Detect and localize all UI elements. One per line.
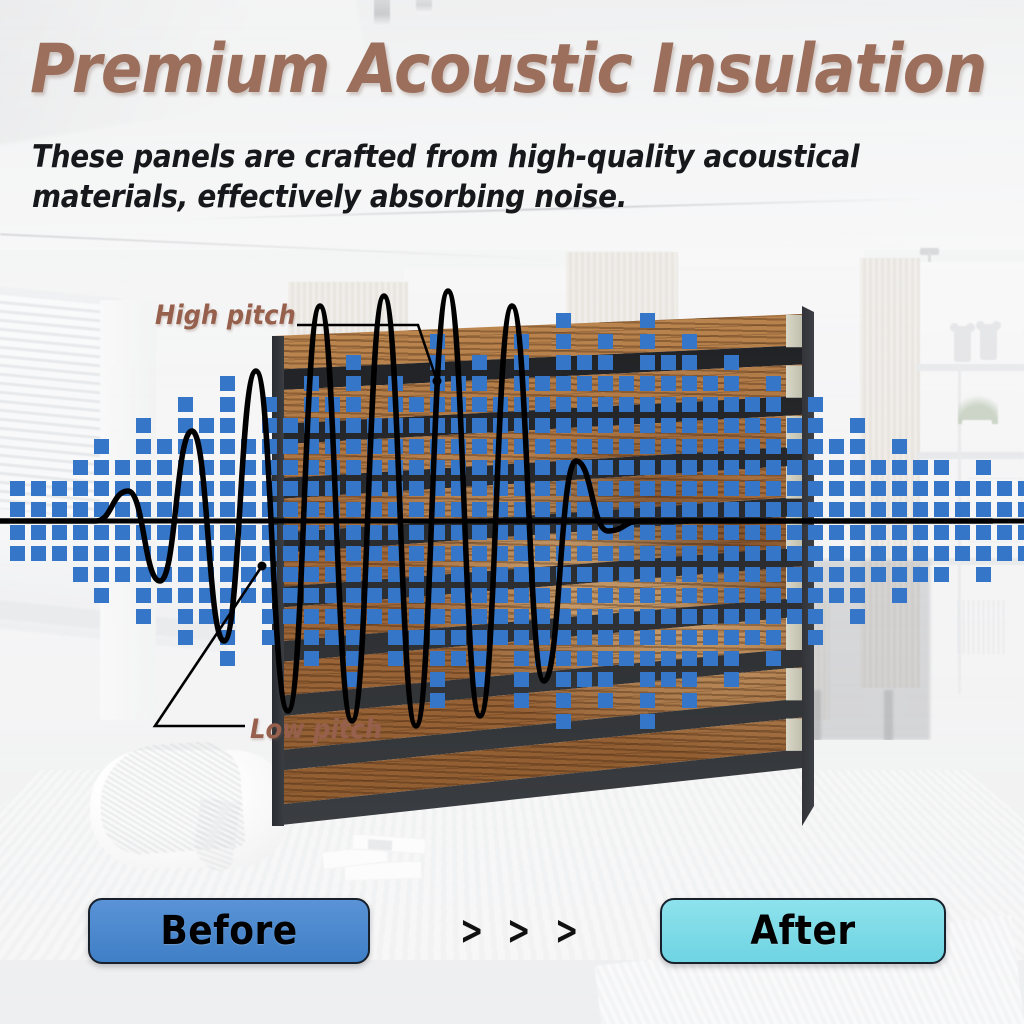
equalizer-block [304, 630, 319, 645]
equalizer-block [682, 418, 697, 433]
equalizer-block [766, 525, 781, 540]
equalizer-block [31, 481, 46, 496]
equalizer-block [577, 525, 592, 540]
equalizer-block [220, 376, 235, 391]
equalizer-block [850, 439, 865, 454]
equalizer-block [598, 546, 613, 561]
equalizer-block [619, 651, 634, 666]
equalizer-block [829, 525, 844, 540]
high-pitch-anchor-dot [433, 377, 442, 386]
equalizer-block [745, 588, 760, 603]
equalizer-block [703, 630, 718, 645]
equalizer-block [178, 588, 193, 603]
equalizer-block [682, 376, 697, 391]
equalizer-block [598, 609, 613, 624]
equalizer-block [430, 609, 445, 624]
equalizer-block [346, 418, 361, 433]
equalizer-block [73, 567, 88, 582]
before-button-label: Before [160, 911, 297, 951]
equalizer-block [661, 502, 676, 517]
equalizer-block [997, 502, 1012, 517]
equalizer-block [724, 502, 739, 517]
equalizer-block [430, 651, 445, 666]
equalizer-block [220, 525, 235, 540]
equalizer-block [220, 418, 235, 433]
equalizer-block [682, 588, 697, 603]
equalizer-block [409, 609, 424, 624]
equalizer-block [283, 567, 298, 582]
equalizer-block [703, 588, 718, 603]
equalizer-block [430, 693, 445, 708]
equalizer-block [619, 418, 634, 433]
equalizer-block [829, 588, 844, 603]
equalizer-block [661, 418, 676, 433]
equalizer-block [178, 546, 193, 561]
equalizer-block [472, 460, 487, 475]
equalizer-block [136, 418, 151, 433]
equalizer-block [115, 502, 130, 517]
equalizer-block [598, 651, 613, 666]
equalizer-block [472, 481, 487, 496]
equalizer-block [640, 651, 655, 666]
equalizer-block [577, 418, 592, 433]
after-button-label: After [750, 911, 855, 951]
equalizer-block [409, 546, 424, 561]
equalizer-block [892, 460, 907, 475]
equalizer-block [829, 439, 844, 454]
equalizer-block [808, 588, 823, 603]
equalizer-block [976, 525, 991, 540]
equalizer-block [493, 630, 508, 645]
equalizer-block [493, 609, 508, 624]
equalizer-block [703, 439, 718, 454]
equalizer-block [94, 546, 109, 561]
equalizer-block [577, 397, 592, 412]
equalizer-block [661, 439, 676, 454]
equalizer-block [52, 502, 67, 517]
equalizer-block [136, 588, 151, 603]
equalizer-block [472, 546, 487, 561]
equalizer-block [409, 630, 424, 645]
equalizer-block [283, 588, 298, 603]
page-subtitle: These panels are crafted from high-quali… [32, 138, 1012, 217]
equalizer-block [661, 630, 676, 645]
equalizer-block [577, 651, 592, 666]
equalizer-block [829, 546, 844, 561]
equalizer-block [472, 630, 487, 645]
equalizer-block [682, 355, 697, 370]
equalizer-block [640, 693, 655, 708]
equalizer-block [640, 313, 655, 328]
equalizer-block [640, 376, 655, 391]
equalizer-block [472, 525, 487, 540]
equalizer-block [577, 588, 592, 603]
equalizer-block [976, 567, 991, 582]
equalizer-block [850, 546, 865, 561]
equalizer-block [766, 630, 781, 645]
equalizer-block [850, 481, 865, 496]
equalizer-block [1018, 481, 1024, 496]
equalizer-block [136, 481, 151, 496]
equalizer-block [451, 567, 466, 582]
equalizer-block [73, 502, 88, 517]
equalizer-block [787, 460, 802, 475]
equalizer-block [808, 481, 823, 496]
equalizer-block [94, 460, 109, 475]
equalizer-block [115, 460, 130, 475]
equalizer-block [892, 439, 907, 454]
equalizer-block [640, 355, 655, 370]
equalizer-block [388, 630, 403, 645]
equalizer-block [409, 397, 424, 412]
equalizer-block [871, 546, 886, 561]
equalizer-block [598, 355, 613, 370]
equalizer-block [367, 546, 382, 561]
equalizer-block [640, 418, 655, 433]
equalizer-block [346, 481, 361, 496]
equalizer-block [157, 588, 172, 603]
equalizer-block [682, 546, 697, 561]
equalizer-block [409, 439, 424, 454]
equalizer-block [619, 567, 634, 582]
equalizer-block [556, 630, 571, 645]
equalizer-block [619, 481, 634, 496]
equalizer-block [808, 460, 823, 475]
equalizer-block [682, 334, 697, 349]
equalizer-block [598, 397, 613, 412]
equalizer-block [661, 609, 676, 624]
equalizer-block [472, 567, 487, 582]
equalizer-block [787, 588, 802, 603]
equalizer-block [703, 651, 718, 666]
equalizer-block [157, 439, 172, 454]
equalizer-block [535, 481, 550, 496]
equalizer-block [598, 502, 613, 517]
equalizer-block [934, 525, 949, 540]
chevron-right-icon: > [460, 911, 483, 951]
equalizer-block [619, 439, 634, 454]
equalizer-block [514, 546, 529, 561]
equalizer-block [850, 525, 865, 540]
equalizer-block [976, 460, 991, 475]
equalizer-block [535, 460, 550, 475]
equalizer-block [703, 418, 718, 433]
equalizer-block [304, 588, 319, 603]
equalizer-block [745, 630, 760, 645]
equalizer-block [682, 525, 697, 540]
equalizer-block [913, 525, 928, 540]
equalizer-block [178, 609, 193, 624]
equalizer-block [388, 609, 403, 624]
equalizer-block [850, 588, 865, 603]
equalizer-block [598, 672, 613, 687]
equalizer-block [409, 525, 424, 540]
equalizer-block [514, 651, 529, 666]
equalizer-block [955, 502, 970, 517]
equalizer-block [199, 418, 214, 433]
equalizer-block [682, 693, 697, 708]
equalizer-block [220, 439, 235, 454]
equalizer-block [514, 609, 529, 624]
equalizer-block [724, 481, 739, 496]
equalizer-block [556, 376, 571, 391]
equalizer-block [577, 609, 592, 624]
equalizer-block [472, 439, 487, 454]
equalizer-block [367, 609, 382, 624]
equalizer-block [577, 672, 592, 687]
equalizer-block [577, 439, 592, 454]
high-pitch-label: High pitch [155, 302, 296, 329]
equalizer-block [598, 588, 613, 603]
equalizer-block [619, 376, 634, 391]
equalizer-block [976, 546, 991, 561]
equalizer-block [724, 546, 739, 561]
equalizer-block [1018, 546, 1024, 561]
equalizer-block [871, 502, 886, 517]
equalizer-block [346, 525, 361, 540]
equalizer-block [787, 502, 802, 517]
equalizer-block [766, 439, 781, 454]
equalizer-block [535, 439, 550, 454]
equalizer-block [556, 313, 571, 328]
equalizer-block [997, 546, 1012, 561]
equalizer-block [472, 588, 487, 603]
equalizer-block [556, 397, 571, 412]
equalizer-block [703, 376, 718, 391]
equalizer-block [73, 460, 88, 475]
equalizer-block [199, 609, 214, 624]
equalizer-block [304, 525, 319, 540]
equalizer-block [682, 397, 697, 412]
equalizer-block [640, 460, 655, 475]
equalizer-block [703, 546, 718, 561]
equalizer-block [766, 376, 781, 391]
equalizer-block [598, 630, 613, 645]
equalizer-block [472, 502, 487, 517]
equalizer-block [304, 651, 319, 666]
equalizer-block [766, 546, 781, 561]
equalizer-block [115, 567, 130, 582]
equalizer-block [304, 609, 319, 624]
equalizer-block [472, 651, 487, 666]
equalizer-block [220, 460, 235, 475]
equalizer-block [808, 502, 823, 517]
equalizer-block [661, 546, 676, 561]
equalizer-block [640, 439, 655, 454]
equalizer-block [556, 418, 571, 433]
equalizer-block [94, 567, 109, 582]
equalizer-block [535, 418, 550, 433]
equalizer-block [325, 630, 340, 645]
equalizer-block [871, 460, 886, 475]
equalizer-block [10, 525, 25, 540]
equalizer-block [661, 567, 676, 582]
equalizer-block [346, 376, 361, 391]
equalizer-block [724, 397, 739, 412]
equalizer-block [304, 567, 319, 582]
equalizer-block [73, 525, 88, 540]
equalizer-block [703, 609, 718, 624]
equalizer-block [283, 609, 298, 624]
equalizer-block [598, 418, 613, 433]
equalizer-block [913, 481, 928, 496]
equalizer-block [682, 630, 697, 645]
equalizer-block [52, 546, 67, 561]
low-pitch-anchor-dot [258, 562, 267, 571]
equalizer-block [724, 588, 739, 603]
equalizer-block [640, 567, 655, 582]
equalizer-block [283, 502, 298, 517]
equalizer-block [808, 609, 823, 624]
equalizer-block [745, 502, 760, 517]
equalizer-block [619, 460, 634, 475]
progress-chevrons: >>> [444, 908, 594, 954]
equalizer-block [514, 567, 529, 582]
equalizer-block [10, 546, 25, 561]
equalizer-block [724, 651, 739, 666]
equalizer-block [346, 502, 361, 517]
equalizer-block [724, 439, 739, 454]
equalizer-block [703, 397, 718, 412]
equalizer-block [787, 481, 802, 496]
equalizer-block [346, 355, 361, 370]
equalizer-block [808, 525, 823, 540]
equalizer-block [346, 546, 361, 561]
equalizer-block [283, 439, 298, 454]
equalizer-block [745, 439, 760, 454]
equalizer-block [724, 609, 739, 624]
page-title: Premium Acoustic Insulation [30, 36, 1020, 104]
equalizer-block [661, 672, 676, 687]
equalizer-block [388, 651, 403, 666]
chevron-right-icon: > [555, 911, 578, 951]
equalizer-block [619, 502, 634, 517]
equalizer-block [745, 418, 760, 433]
equalizer-block [73, 481, 88, 496]
equalizer-block [598, 693, 613, 708]
equalizer-block [346, 460, 361, 475]
equalizer-block [409, 481, 424, 496]
equalizer-block [178, 397, 193, 412]
equalizer-block [178, 567, 193, 582]
equalizer-block [661, 355, 676, 370]
equalizer-block [556, 693, 571, 708]
equalizer-block [871, 567, 886, 582]
equalizer-block [430, 588, 445, 603]
equalizer-block [472, 376, 487, 391]
equalizer-block [997, 481, 1012, 496]
equalizer-block [766, 609, 781, 624]
equalizer-block [829, 481, 844, 496]
equalizer-block [703, 502, 718, 517]
equalizer-block [598, 481, 613, 496]
equalizer-block [640, 630, 655, 645]
equalizer-block [577, 376, 592, 391]
equalizer-block [556, 651, 571, 666]
equalizer-block [892, 525, 907, 540]
equalizer-block [577, 567, 592, 582]
equalizer-block [913, 567, 928, 582]
equalizer-block [892, 481, 907, 496]
infographic-canvas: Premium Acoustic Insulation These panels… [0, 0, 1024, 1024]
equalizer-block [31, 546, 46, 561]
equalizer-block [220, 502, 235, 517]
equalizer-block [766, 460, 781, 475]
equalizer-block [808, 397, 823, 412]
equalizer-block [661, 651, 676, 666]
equalizer-block [409, 460, 424, 475]
equalizer-block [745, 460, 760, 475]
equalizer-block [682, 460, 697, 475]
equalizer-block [598, 567, 613, 582]
equalizer-block [703, 460, 718, 475]
equalizer-block [409, 502, 424, 517]
equalizer-block [661, 481, 676, 496]
equalizer-block [934, 546, 949, 561]
equalizer-block [829, 567, 844, 582]
equalizer-block [682, 439, 697, 454]
equalizer-block [220, 651, 235, 666]
equalizer-block [619, 609, 634, 624]
equalizer-block [913, 546, 928, 561]
equalizer-block [955, 525, 970, 540]
equalizer-block [514, 630, 529, 645]
equalizer-block [136, 609, 151, 624]
equalizer-block [535, 397, 550, 412]
equalizer-block [472, 397, 487, 412]
equalizer-block [955, 481, 970, 496]
equalizer-block [577, 502, 592, 517]
equalizer-block [283, 460, 298, 475]
equalizer-block [535, 567, 550, 582]
equalizer-block [241, 546, 256, 561]
equalizer-block [766, 502, 781, 517]
equalizer-block [703, 567, 718, 582]
equalizer-block [787, 418, 802, 433]
equalizer-block [31, 502, 46, 517]
equalizer-block [283, 546, 298, 561]
equalizer-block [556, 714, 571, 729]
equalizer-block [136, 460, 151, 475]
equalizer-block [682, 481, 697, 496]
equalizer-block [934, 502, 949, 517]
equalizer-block [1018, 525, 1024, 540]
equalizer-block [682, 672, 697, 687]
equalizer-block [640, 714, 655, 729]
low-pitch-label: Low pitch [250, 716, 382, 743]
after-button[interactable]: After [660, 898, 946, 964]
equalizer-block [808, 439, 823, 454]
equalizer-block [451, 630, 466, 645]
equalizer-block [94, 481, 109, 496]
equalizer-block [94, 525, 109, 540]
equalizer-block [535, 525, 550, 540]
equalizer-block [640, 609, 655, 624]
equalizer-block [787, 546, 802, 561]
equalizer-block [703, 481, 718, 496]
equalizer-block [934, 481, 949, 496]
equalizer-block [514, 672, 529, 687]
equalizer-block [451, 651, 466, 666]
equalizer-block [178, 630, 193, 645]
chevron-right-icon: > [507, 911, 530, 951]
equalizer-block [556, 672, 571, 687]
equalizer-block [808, 630, 823, 645]
before-button[interactable]: Before [88, 898, 370, 964]
equalizer-block [871, 481, 886, 496]
equalizer-block [598, 439, 613, 454]
equalizer-block [640, 672, 655, 687]
